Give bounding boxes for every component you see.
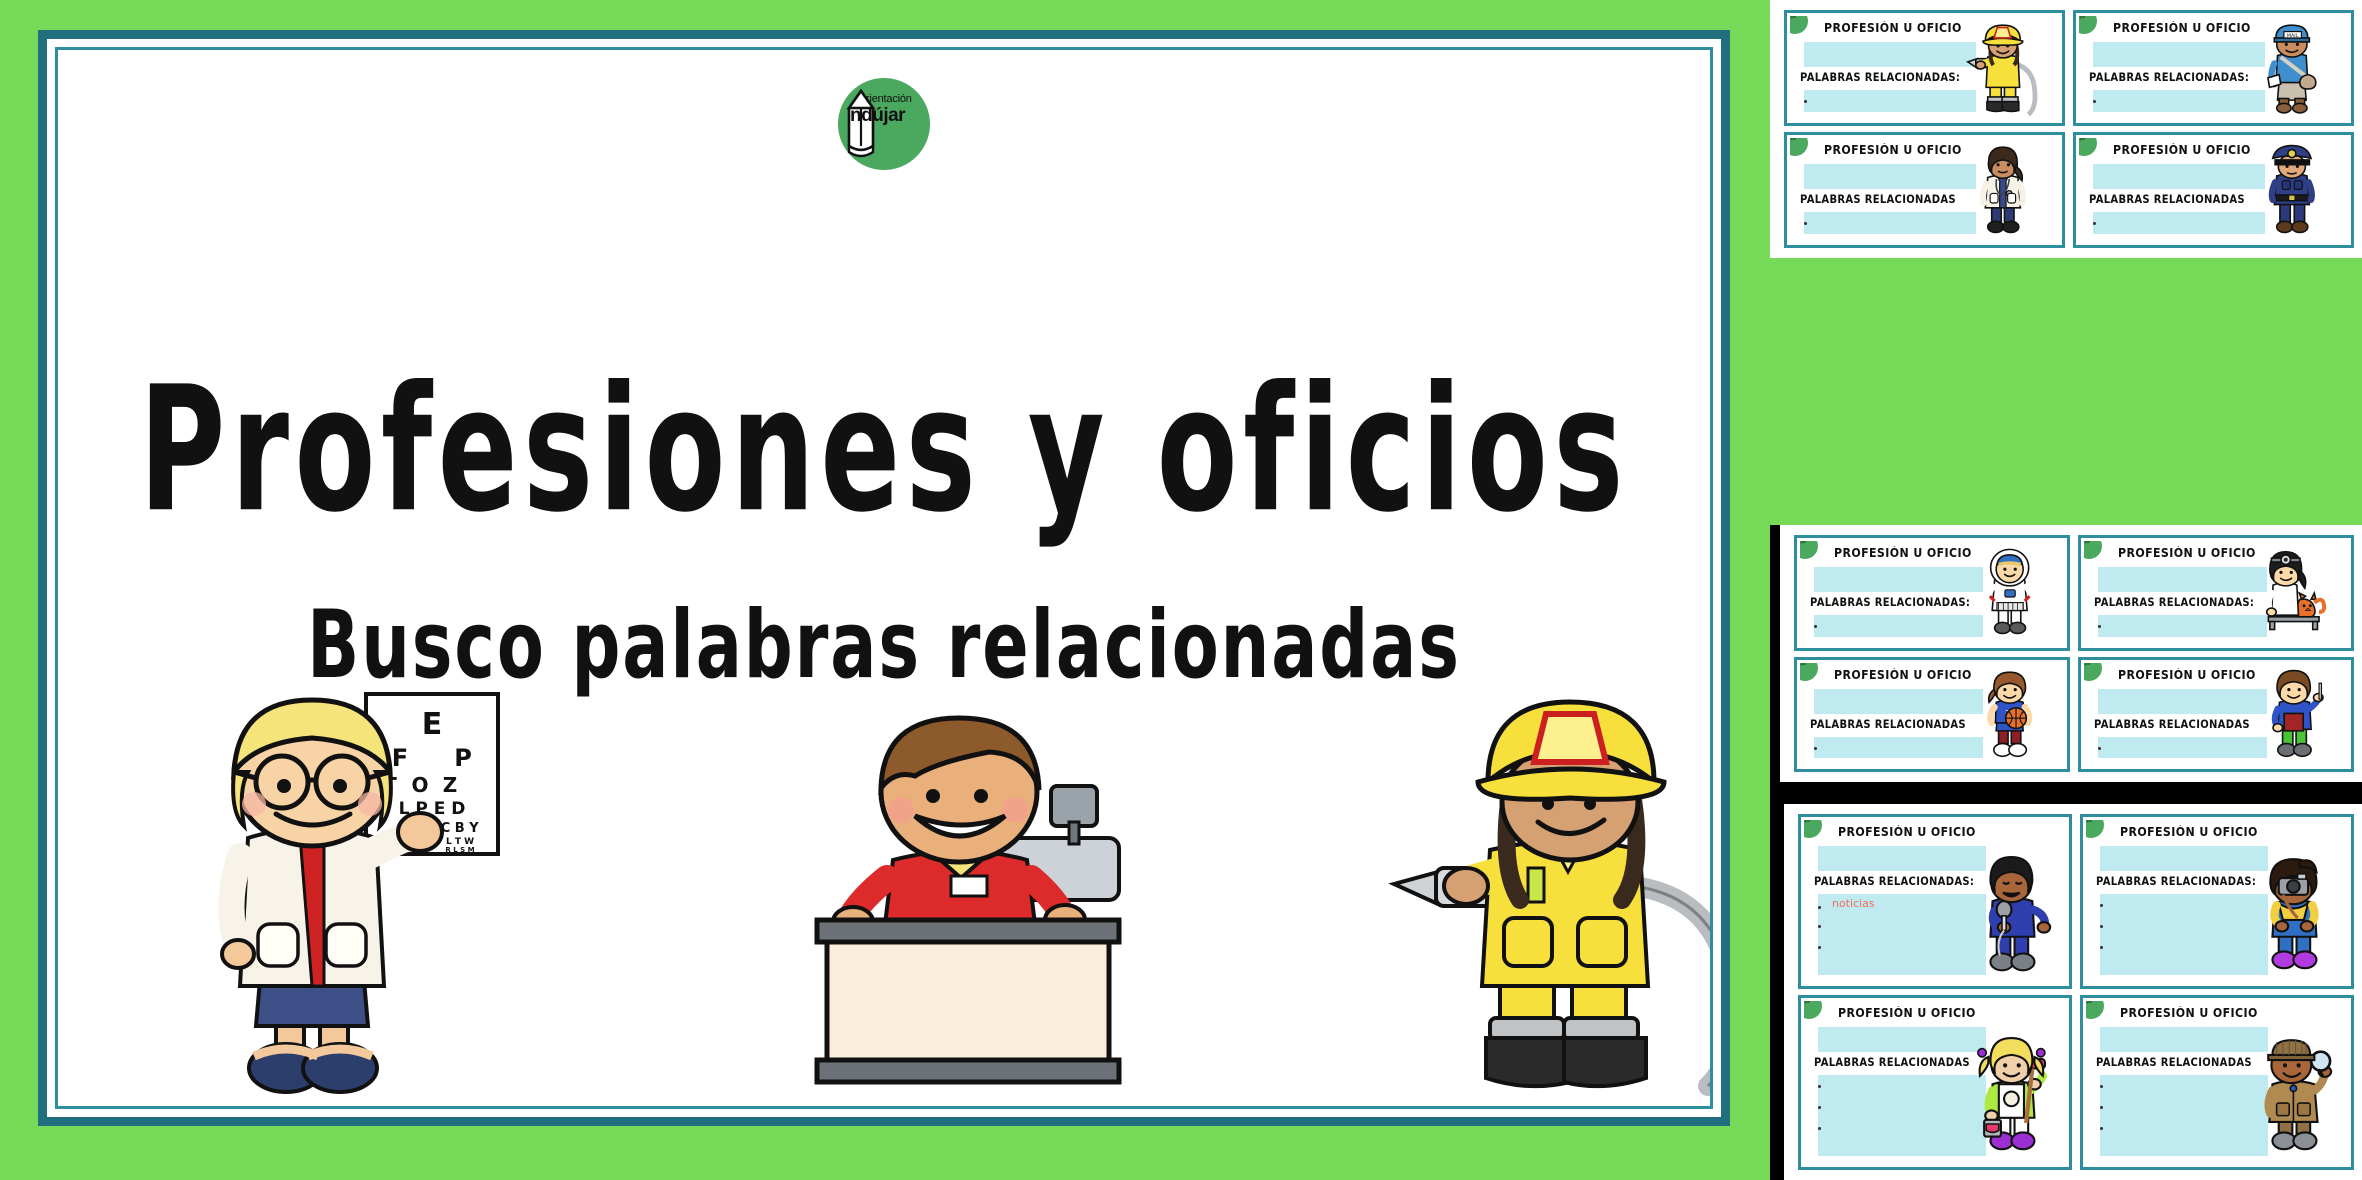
related-words-label: PALABRAS RELACIONADAS: xyxy=(1814,876,1974,888)
page-subtitle: Busco palabras relacionadas xyxy=(99,590,1668,699)
card-logo-text: rientaciónndújar xyxy=(1790,138,1802,141)
panel-1[interactable]: rientaciónndújarPROFESIÓN U OFICIOPALABR… xyxy=(1770,0,2362,258)
profession-card[interactable]: rientaciónndújarPROFESIÓN U OFICIOPALABR… xyxy=(1784,10,2065,126)
reporter-icon xyxy=(1959,831,2064,981)
profession-card[interactable]: rientaciónndújarPROFESIÓN U OFICIOPALABR… xyxy=(1798,814,2072,989)
card-logo-text: rientaciónndújar xyxy=(1804,820,1816,823)
page-title: Profesiones y oficios xyxy=(124,350,1644,551)
card-body: rientaciónndújarPROFESIÓN U OFICIOPALABR… xyxy=(2086,1001,2348,1164)
related-words-label: PALABRAS RELACIONADAS xyxy=(2096,1057,2252,1069)
card-body: rientaciónndújarPROFESIÓN U OFICIOPALABR… xyxy=(1790,16,2059,120)
svg-text:Z: Z xyxy=(443,773,458,797)
card-brand-logo: rientaciónndújar xyxy=(1790,16,1808,34)
card-body: rientaciónndújarPROFESIÓN U OFICIOPALABR… xyxy=(2084,541,2348,645)
related-words-label: PALABRAS RELACIONADAS xyxy=(1800,194,1956,206)
related-words-label: PALABRAS RELACIONADAS xyxy=(1810,719,1966,731)
card-logo-text: rientaciónndújar xyxy=(1790,16,1802,19)
svg-text:MAIL: MAIL xyxy=(2287,33,2299,39)
card-heading: PROFESIÓN U OFICIO xyxy=(2120,1006,2258,1021)
mail-carrier-icon: MAIL xyxy=(2238,22,2346,118)
related-words-label: PALABRAS RELACIONADAS xyxy=(1814,1057,1970,1069)
card-brand-logo: rientaciónndújar xyxy=(2079,16,2097,34)
panel-2[interactable]: rientaciónndújarPROFESIÓN U OFICIOPALABR… xyxy=(1770,525,2362,790)
card-body: rientaciónndújarPROFESIÓN U OFICIOPALABR… xyxy=(1790,138,2059,242)
profession-card[interactable]: rientaciónndújarPROFESIÓN U OFICIOPALABR… xyxy=(1798,995,2072,1170)
card-brand-logo: rientaciónndújar xyxy=(1790,138,1808,156)
doctor-icon xyxy=(1949,144,2057,240)
related-words-label: PALABRAS RELACIONADAS: xyxy=(1810,597,1970,609)
card-logo-text: rientaciónndújar xyxy=(2079,16,2091,19)
veterinarian-icon xyxy=(2240,547,2346,642)
related-words-label: PALABRAS RELACIONADAS: xyxy=(2094,597,2254,609)
card-body: rientaciónndújarPROFESIÓN U OFICIOPALABR… xyxy=(1804,1001,2066,1164)
card-body: rientaciónndújarPROFESIÓN U OFICIOPALABR… xyxy=(2084,663,2348,767)
slide-inner-frame: rientación ndújar Profesiones y oficios … xyxy=(55,47,1713,1109)
firefighter-icon xyxy=(1949,22,2057,118)
related-words-label: PALABRAS RELACIONADAS xyxy=(2089,194,2245,206)
main-slide-area: rientación ndújar Profesiones y oficios … xyxy=(0,0,1770,1180)
optometrist-illustration: E F P T O Z L P E D E C B Y L T W R L S … xyxy=(168,686,508,1106)
card-logo-text: rientaciónndújar xyxy=(2084,541,2096,544)
profession-card[interactable]: rientaciónndújarPROFESIÓN U OFICIOPALABR… xyxy=(2080,995,2354,1170)
profession-card[interactable]: rientaciónndújarPROFESIÓN U OFICIOPALABR… xyxy=(1784,132,2065,248)
card-brand-logo: rientaciónndújar xyxy=(1800,541,1818,559)
card-logo-text: rientaciónndújar xyxy=(2079,138,2091,141)
card-heading: PROFESIÓN U OFICIO xyxy=(1834,668,1972,683)
related-words-label: PALABRAS RELACIONADAS: xyxy=(1800,72,1960,84)
card-heading: PROFESIÓN U OFICIO xyxy=(2113,143,2251,158)
logo-circle xyxy=(838,78,930,170)
card-logo-text: rientaciónndújar xyxy=(2084,663,2096,666)
panel-2-card-grid: rientaciónndújarPROFESIÓN U OFICIOPALABR… xyxy=(1780,525,2362,782)
thumbnail-panels: rientaciónndújarPROFESIÓN U OFICIOPALABR… xyxy=(1770,0,2362,1180)
profession-card[interactable]: rientaciónndújarPROFESIÓN U OFICIOPALABR… xyxy=(2078,657,2354,773)
illustration-row: E F P T O Z L P E D E C B Y L T W R L S … xyxy=(58,686,1710,1106)
card-heading: PROFESIÓN U OFICIO xyxy=(1824,21,1962,36)
card-heading: PROFESIÓN U OFICIO xyxy=(1834,546,1972,561)
card-brand-logo: rientaciónndújar xyxy=(1804,1001,1822,1019)
svg-text:R L S M: R L S M xyxy=(445,846,474,854)
card-heading: PROFESIÓN U OFICIO xyxy=(2120,825,2258,840)
basketball-player-icon: 22 xyxy=(1956,669,2062,764)
astronaut-icon xyxy=(1956,547,2062,642)
panel-3[interactable]: rientaciónndújarPROFESIÓN U OFICIOPALABR… xyxy=(1770,790,2362,1180)
card-brand-logo: rientaciónndújar xyxy=(2086,1001,2104,1019)
card-body: rientaciónndújarPROFESIÓN U OFICIOPALABR… xyxy=(1800,663,2064,767)
panel-1-card-grid: rientaciónndújarPROFESIÓN U OFICIOPALABR… xyxy=(1770,0,2362,258)
student-icon xyxy=(2240,669,2346,764)
app-stage: rientación ndújar Profesiones y oficios … xyxy=(0,0,2362,1180)
brand-logo: rientación ndújar xyxy=(838,78,930,170)
svg-text:E: E xyxy=(422,707,443,742)
profession-card[interactable]: rientaciónndújarPROFESIÓN U OFICIOPALABR… xyxy=(1794,535,2070,651)
svg-text:O: O xyxy=(411,773,428,797)
card-heading: PROFESIÓN U OFICIO xyxy=(1838,825,1976,840)
profession-card[interactable]: rientaciónndújarPROFESIÓN U OFICIOPALABR… xyxy=(2073,10,2354,126)
card-logo-text: rientaciónndújar xyxy=(1800,541,1812,544)
profession-card[interactable]: rientaciónndújarPROFESIÓN U OFICIOPALABR… xyxy=(2078,535,2354,651)
card-brand-logo: rientaciónndújar xyxy=(2086,820,2104,838)
slide-outer-frame: rientación ndújar Profesiones y oficios … xyxy=(38,30,1730,1126)
firefighter-illustration xyxy=(1378,686,1713,1106)
card-brand-logo: rientaciónndújar xyxy=(1800,663,1818,681)
panel-3-card-grid: rientaciónndújarPROFESIÓN U OFICIOPALABR… xyxy=(1784,804,2362,1180)
card-heading: PROFESIÓN U OFICIO xyxy=(2113,21,2251,36)
detective-icon xyxy=(2241,1012,2346,1162)
profession-card[interactable]: rientaciónndújarPROFESIÓN U OFICIOPALABR… xyxy=(2080,814,2354,989)
card-logo-text: rientaciónndújar xyxy=(1800,663,1812,666)
painter-icon xyxy=(1959,1012,2064,1162)
card-body: rientaciónndújarPROFESIÓN U OFICIOPALABR… xyxy=(2079,16,2348,120)
police-officer-icon xyxy=(2238,144,2346,240)
card-brand-logo: rientaciónndújar xyxy=(2079,138,2097,156)
pencil-icon xyxy=(844,88,878,162)
card-body: rientaciónndújarPROFESIÓN U OFICIOPALABR… xyxy=(1800,541,2064,645)
related-words-label: PALABRAS RELACIONADAS xyxy=(2094,719,2250,731)
card-brand-logo: rientaciónndújar xyxy=(2084,541,2102,559)
related-words-label: PALABRAS RELACIONADAS: xyxy=(2089,72,2249,84)
card-logo-text: rientaciónndújar xyxy=(2086,1001,2098,1004)
card-body: rientaciónndújarPROFESIÓN U OFICIOPALABR… xyxy=(1804,820,2066,983)
related-word-text: noticias xyxy=(1832,897,1875,910)
card-heading: PROFESIÓN U OFICIO xyxy=(2118,546,2256,561)
card-heading: PROFESIÓN U OFICIO xyxy=(2118,668,2256,683)
svg-text:P: P xyxy=(454,744,472,772)
card-logo-text: rientaciónndújar xyxy=(2086,820,2098,823)
profession-card[interactable]: rientaciónndújarPROFESIÓN U OFICIOPALABR… xyxy=(1794,657,2070,773)
card-heading: PROFESIÓN U OFICIO xyxy=(1824,143,1962,158)
profession-card[interactable]: rientaciónndújarPROFESIÓN U OFICIOPALABR… xyxy=(2073,132,2354,248)
cashier-illustration xyxy=(803,710,1133,1100)
card-body: rientaciónndújarPROFESIÓN U OFICIOPALABR… xyxy=(2079,138,2348,242)
svg-text:F: F xyxy=(392,744,408,772)
photographer-icon xyxy=(2241,831,2346,981)
card-logo-text: rientaciónndújar xyxy=(1804,1001,1816,1004)
card-brand-logo: rientaciónndújar xyxy=(2084,663,2102,681)
card-brand-logo: rientaciónndújar xyxy=(1804,820,1822,838)
card-heading: PROFESIÓN U OFICIO xyxy=(1838,1006,1976,1021)
related-words-label: PALABRAS RELACIONADAS: xyxy=(2096,876,2256,888)
card-body: rientaciónndújarPROFESIÓN U OFICIOPALABR… xyxy=(2086,820,2348,983)
